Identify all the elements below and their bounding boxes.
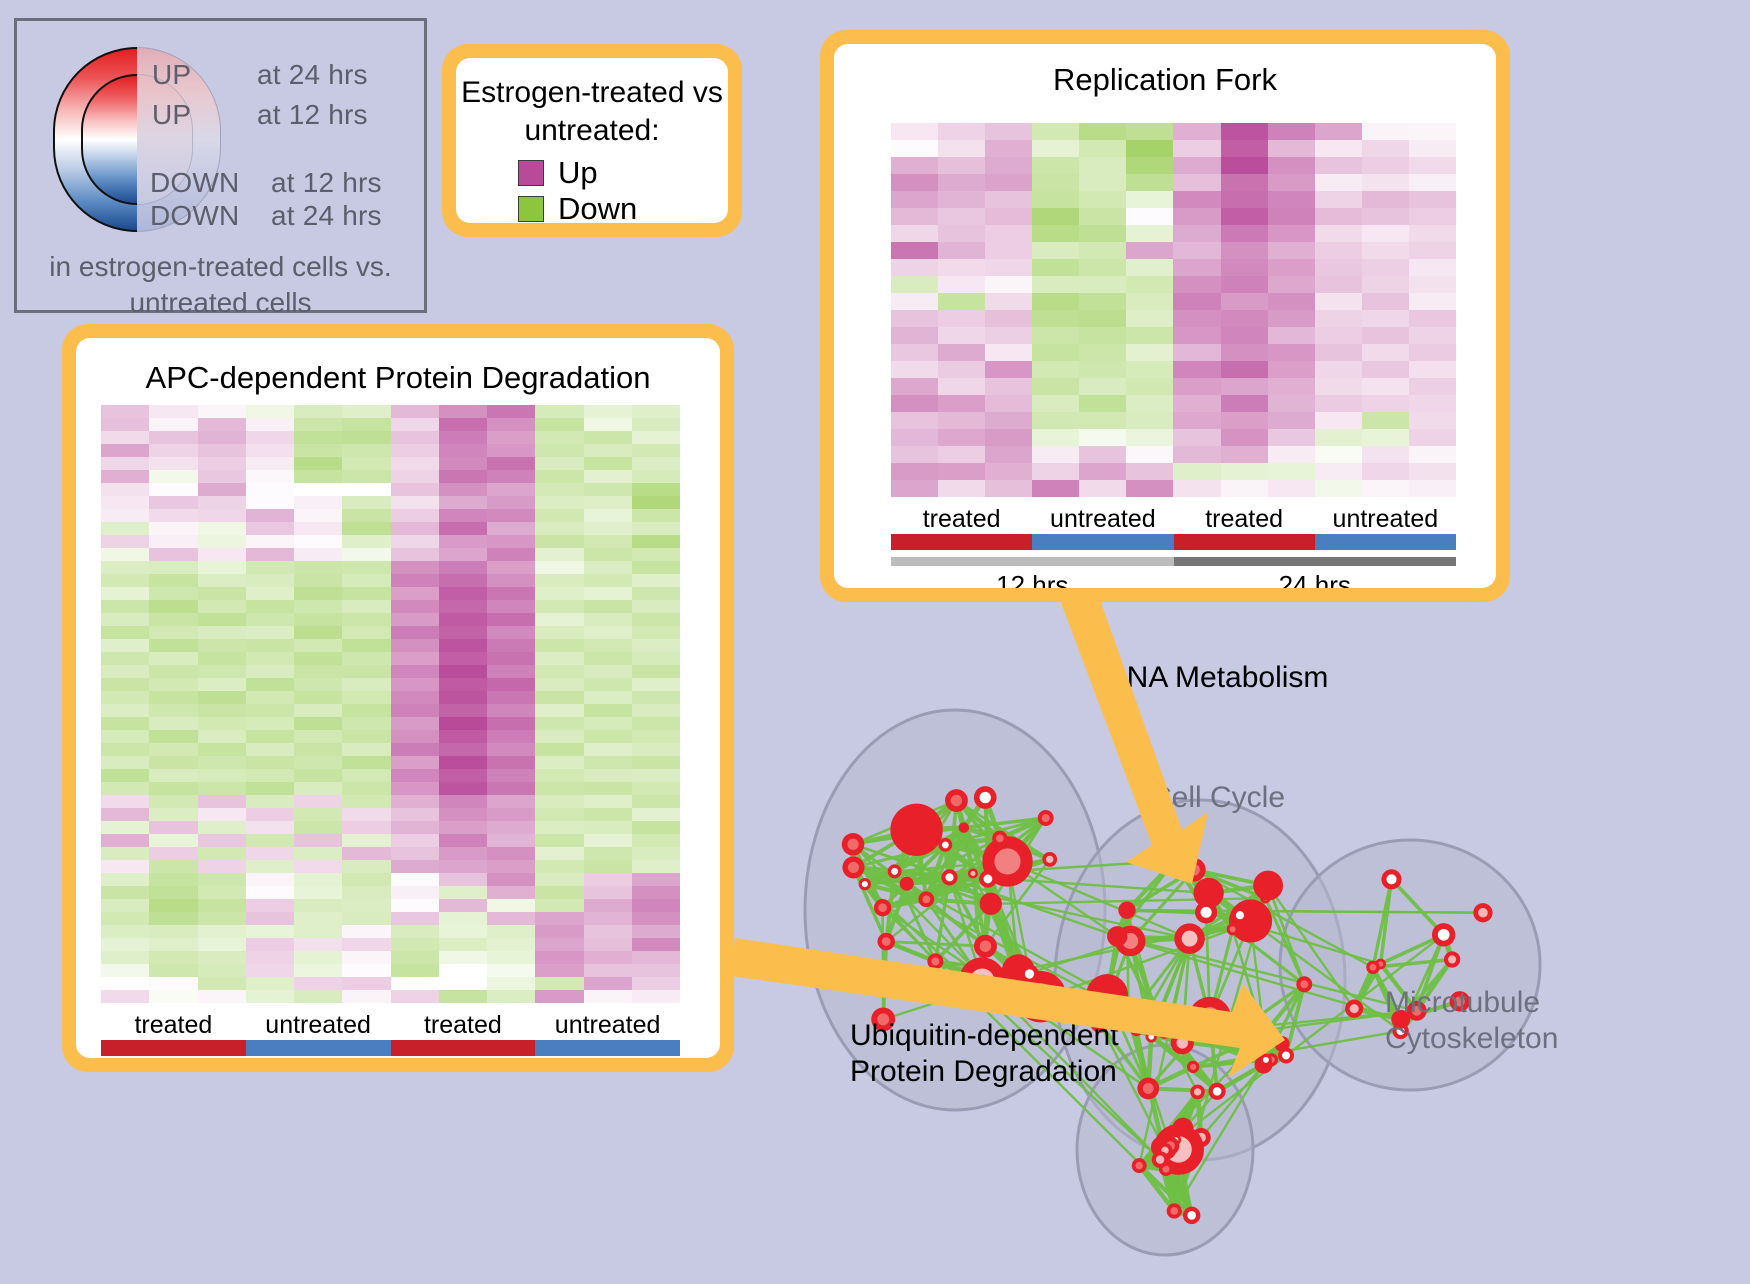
callout-arrows	[0, 0, 1750, 1279]
arrow-apc-degradation	[731, 938, 1285, 1078]
figure-canvas: UP at 24 hrs UP at 12 hrs DOWN at 12 hrs…	[0, 0, 1750, 1279]
arrow-replication-fork	[1060, 600, 1208, 884]
